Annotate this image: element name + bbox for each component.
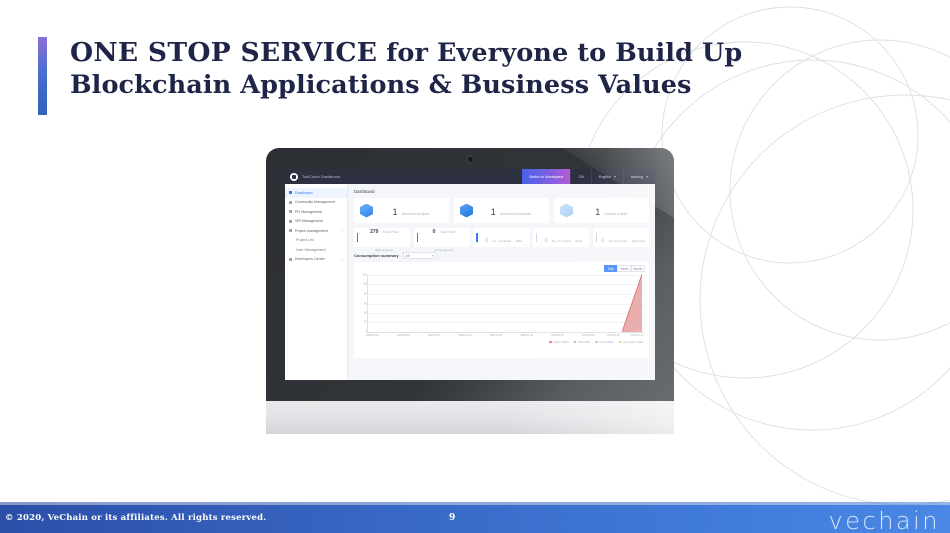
code-icon	[289, 258, 292, 261]
vechain-logo-icon	[290, 173, 298, 181]
sidebar-item-dashboard[interactable]: Dashboard	[285, 188, 347, 198]
footer-bar: © 2020, VeChain or its affiliates. All r…	[0, 505, 950, 533]
hexagon-icon	[360, 204, 373, 218]
page-title: ONE STOP SERVICE for Everyone to Build U…	[47, 37, 742, 115]
app-screen: ToolChain Dashboard Switch to Workspace …	[285, 169, 655, 380]
stat-card-text: 1 Amount of projects	[379, 202, 443, 220]
legend-item-used-vid[interactable]: Used VID	[574, 340, 590, 344]
footer-page-number: 9	[449, 513, 455, 523]
hexagon-icon	[560, 204, 573, 218]
sidebar-item-label: Project management	[295, 229, 328, 233]
camera-dot-icon	[468, 157, 473, 162]
legend-label: Used VTHO	[553, 340, 569, 344]
stat-card-total-vtho-main[interactable]: 279 Total VTHO Main account	[354, 228, 410, 247]
app-sidebar: Dashboard Commodity Management PO Manage…	[285, 184, 348, 380]
gridline	[368, 304, 645, 305]
legend-label: Used VID	[578, 340, 590, 344]
topbar-item-account[interactable]: training	[623, 169, 655, 184]
stat-label-line1: Total VTHO	[383, 230, 399, 234]
stat-card-text: 1 Amount of processes	[479, 202, 543, 220]
y-tick: 60	[359, 302, 367, 305]
y-tick: 80	[359, 292, 367, 295]
y-tick: 40	[359, 311, 367, 314]
stat-card-text: 0 No. of unused QR codes	[600, 229, 646, 247]
sidebar-item-label: Developers Center	[295, 257, 325, 261]
chart-plot-area: 120 100 80 60 40 20 0	[367, 275, 645, 333]
x-tick: 2020-02-11	[630, 334, 643, 337]
accent-bar	[417, 233, 418, 242]
sidebar-item-commodity-management[interactable]: Commodity Management	[285, 198, 347, 208]
stat-label-line1: No. of unused	[492, 239, 511, 243]
stat-card-staff[interactable]: 1 Amount of staff	[554, 198, 649, 223]
stat-label-line2: VIDs	[516, 239, 523, 243]
legend-dot-icon	[549, 341, 552, 344]
stat-label-line1: No. of unused	[608, 239, 627, 243]
chevron-down-icon	[341, 230, 343, 231]
app-topbar-right: Switch to Workspace CN English training	[522, 169, 655, 184]
range-button-month[interactable]: Month	[631, 265, 645, 272]
stat-card-text: 279 Total VTHO Main account	[361, 220, 407, 256]
legend-label: Used chips	[599, 340, 613, 344]
sidebar-item-vir-management[interactable]: VIR Management	[285, 217, 347, 227]
stat-value: 279	[370, 229, 378, 235]
chart-x-axis: 2020-01-15 2020-01-18 2020-01-21 2020-01…	[367, 333, 645, 340]
topbar-english-label: English	[599, 175, 611, 179]
gridline	[368, 275, 645, 276]
chevron-down-icon	[646, 176, 648, 178]
doc-icon	[289, 210, 292, 213]
stat-label-line1: Total VTHO	[440, 230, 456, 234]
stat-card-text: 0 No. of unused VIDs	[481, 229, 527, 247]
topbar-cn-label: CN	[578, 175, 583, 179]
chart-range-toggle: Day Week Month	[358, 265, 645, 272]
stat-label: Amount of staff	[605, 212, 627, 216]
legend-dot-icon	[619, 341, 622, 344]
stat-label-line2: QR codes	[632, 239, 645, 243]
title-line-1: ONE STOP SERVICE for Everyone to Build U…	[70, 37, 742, 69]
range-button-week[interactable]: Week	[617, 265, 631, 272]
stat-value: 1	[393, 207, 398, 217]
sidebar-item-label: User Management	[296, 248, 326, 252]
stats-secondary-row: 279 Total VTHO Main account 0 Total VTHO…	[354, 228, 649, 247]
stat-card-text: 1 Amount of staff	[579, 202, 643, 220]
x-tick: 2020-01-27	[490, 334, 503, 337]
stat-value: 0	[601, 238, 604, 244]
sidebar-item-label: PO Management	[295, 210, 322, 214]
switch-to-workspace-button[interactable]: Switch to Workspace	[522, 169, 570, 184]
sidebar-item-developers-center[interactable]: Developers Center	[285, 255, 347, 265]
app-brand-label: ToolChain Dashboard	[302, 175, 340, 179]
sidebar-item-label: Dashboard	[295, 191, 313, 195]
topbar-item-language-cn[interactable]: CN	[570, 169, 590, 184]
accent-bar	[536, 233, 537, 242]
slide-canvas: ONE STOP SERVICE for Everyone to Build U…	[0, 0, 950, 533]
gridline	[368, 284, 645, 285]
main-heading: Dashboard	[354, 189, 649, 194]
range-button-day[interactable]: Day	[604, 265, 618, 272]
x-tick: 2020-01-15	[366, 334, 379, 337]
app-body: Dashboard Commodity Management PO Manage…	[285, 184, 655, 380]
topbar-account-label: training	[631, 175, 643, 179]
x-tick: 2020-01-21	[428, 334, 441, 337]
consumption-chart-panel: Day Week Month 120 100 80 60 40 20 0	[354, 262, 649, 358]
title-accent-bar	[38, 37, 47, 115]
consumption-filter-value: All	[406, 254, 410, 258]
stat-card-unused-qr-codes[interactable]: 0 No. of unused QR codes	[593, 228, 649, 247]
stat-value: 0	[433, 229, 436, 235]
app-topbar: ToolChain Dashboard Switch to Workspace …	[285, 169, 655, 184]
x-tick: 2020-01-31	[520, 334, 533, 337]
stat-label: Amount of processes	[500, 212, 531, 216]
accent-bar	[357, 233, 358, 242]
consumption-summary-header: Consumption summary All	[354, 252, 649, 259]
legend-item-used-qr-codes[interactable]: Used QR codes	[619, 340, 644, 344]
consumption-filter-select[interactable]: All	[403, 252, 437, 259]
title-emphasis: ONE STOP SERVICE	[70, 37, 377, 68]
monitor-chin	[266, 401, 674, 434]
stat-label-line2: chips	[575, 239, 582, 243]
stat-value: 1	[595, 207, 600, 217]
chevron-down-icon	[614, 176, 616, 178]
monitor-mockup: ToolChain Dashboard Switch to Workspace …	[266, 148, 674, 434]
stat-label-line1: No. of unused	[552, 239, 571, 243]
y-tick: 100	[359, 283, 367, 286]
title-line-1-rest: for Everyone to Build Up	[377, 38, 742, 68]
app-main-content: Dashboard 1 Amount of projects	[348, 184, 655, 380]
y-tick: 20	[359, 321, 367, 324]
sidebar-item-project-management[interactable]: Project management	[285, 226, 347, 236]
footer-copyright: © 2020, VeChain or its affiliates. All r…	[5, 513, 266, 523]
stat-card-total-vtho-entity[interactable]: 0 Total VTHO Entity account	[414, 228, 470, 247]
x-tick: 2020-01-18	[397, 334, 410, 337]
chart-legend: Used VTHO Used VID Used chips	[358, 340, 645, 344]
x-tick: 2020-02-05	[582, 334, 595, 337]
consumption-summary-title: Consumption summary	[354, 253, 399, 258]
x-tick: 2020-01-24	[459, 334, 472, 337]
stat-card-unused-chips[interactable]: 0 No. of unused chips	[533, 228, 589, 247]
topbar-item-english[interactable]: English	[591, 169, 623, 184]
sidebar-item-user-management[interactable]: User Management	[285, 245, 347, 255]
folder-icon	[289, 229, 292, 232]
hexagon-icon	[460, 204, 473, 218]
box-icon	[289, 201, 292, 204]
stat-label-line2: Entity account	[435, 248, 454, 252]
legend-item-used-vtho[interactable]: Used VTHO	[549, 340, 569, 344]
legend-dot-icon	[574, 341, 577, 344]
y-tick: 120	[359, 274, 367, 277]
gridline	[368, 322, 645, 323]
accent-bar	[476, 233, 477, 242]
sidebar-item-project-list[interactable]: Project List	[285, 236, 347, 246]
accent-bar	[596, 233, 597, 242]
title-line-2: Blockchain Applications & Business Value…	[70, 69, 742, 101]
sidebar-item-label: Commodity Management	[295, 200, 335, 204]
chevron-down-icon	[341, 259, 343, 260]
chevron-down-icon	[432, 255, 434, 257]
vechain-logo: vechain	[829, 507, 940, 533]
stat-card-text: 0 Total VTHO Entity account	[421, 220, 467, 256]
gridline	[368, 313, 645, 314]
legend-dot-icon	[595, 341, 598, 344]
stat-value: 0	[545, 238, 548, 244]
sidebar-item-po-management[interactable]: PO Management	[285, 207, 347, 217]
dashboard-icon	[289, 191, 292, 194]
stat-value: 0	[485, 238, 488, 244]
x-tick: 2020-02-08	[607, 334, 620, 337]
stat-card-text: 0 No. of unused chips	[540, 229, 586, 247]
stat-label: Amount of projects	[402, 212, 430, 216]
legend-item-used-chips[interactable]: Used chips	[595, 340, 613, 344]
x-tick: 2020-02-02	[551, 334, 564, 337]
stat-label-line2: Main account	[375, 248, 393, 252]
sidebar-item-label: VIR Management	[295, 219, 323, 223]
sidebar-item-label: Project List	[296, 238, 314, 242]
list-icon	[289, 220, 292, 223]
legend-label: Used QR codes	[623, 340, 643, 344]
slide-title-block: ONE STOP SERVICE for Everyone to Build U…	[38, 37, 742, 115]
stat-card-processes[interactable]: 1 Amount of processes	[454, 198, 549, 223]
gridline	[368, 294, 645, 295]
stat-value: 1	[491, 207, 496, 217]
series-used-vtho-area	[622, 274, 642, 332]
stat-card-unused-vids[interactable]: 0 No. of unused VIDs	[473, 228, 529, 247]
